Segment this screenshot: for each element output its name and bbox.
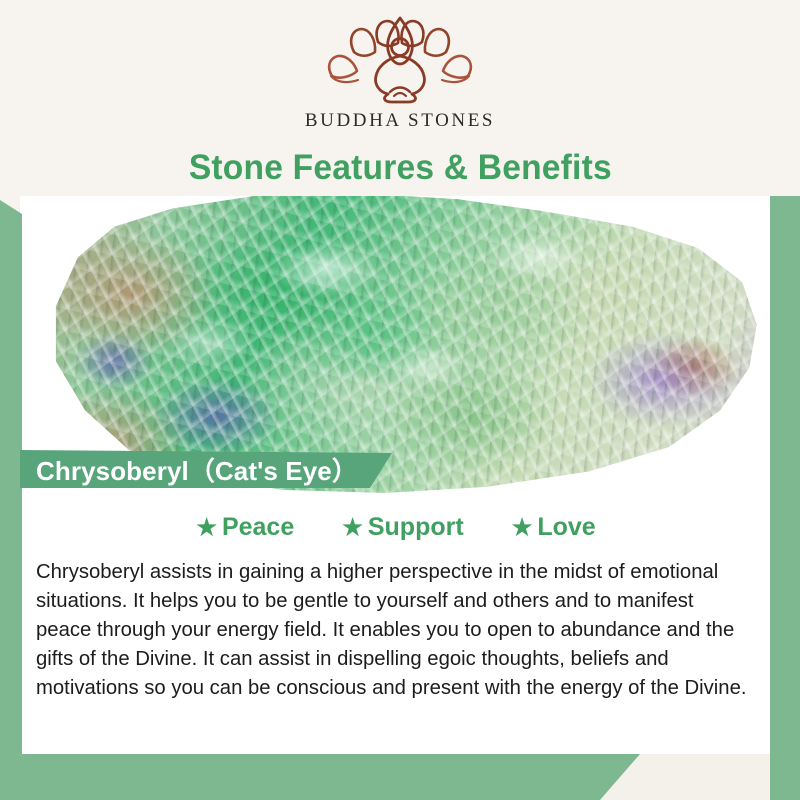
brand-name: BUDDHA STONES xyxy=(0,110,800,132)
page-header: BUDDHA STONES Stone Features & Benefits xyxy=(0,0,800,196)
page-title: Stone Features & Benefits xyxy=(188,148,611,188)
infographic-page: BUDDHA STONES Stone Features & Benefits … xyxy=(0,0,800,800)
star-icon: ★ xyxy=(342,516,363,539)
lotus-meditation-icon xyxy=(316,14,484,106)
frame-border-right xyxy=(770,163,800,800)
brand-logo: BUDDHA STONES xyxy=(0,14,800,132)
stone-description: Chrysoberyl assists in gaining a higher … xyxy=(36,558,754,703)
star-icon: ★ xyxy=(196,516,217,539)
benefit-item-love: ★ Love xyxy=(512,513,596,542)
frame-border-left xyxy=(0,200,22,800)
benefits-list: ★ Peace ★ Support ★ Love xyxy=(22,496,770,542)
benefit-label-peace: Peace xyxy=(222,513,294,542)
title-band: Stone Features & Benefits xyxy=(0,144,800,192)
benefit-label-support: Support xyxy=(368,513,464,542)
stone-name: Chrysoberyl（Cat's Eye） xyxy=(36,451,358,488)
frame-border-bottom xyxy=(0,754,640,800)
content-panel: ★ Peace ★ Support ★ Love Chrysoberyl ass… xyxy=(22,496,770,754)
benefit-item-peace: ★ Peace xyxy=(196,513,294,542)
star-icon: ★ xyxy=(512,516,533,539)
benefit-item-support: ★ Support xyxy=(342,513,463,542)
benefit-label-love: Love xyxy=(537,513,595,542)
stone-name-banner: Chrysoberyl（Cat's Eye） xyxy=(20,450,392,488)
